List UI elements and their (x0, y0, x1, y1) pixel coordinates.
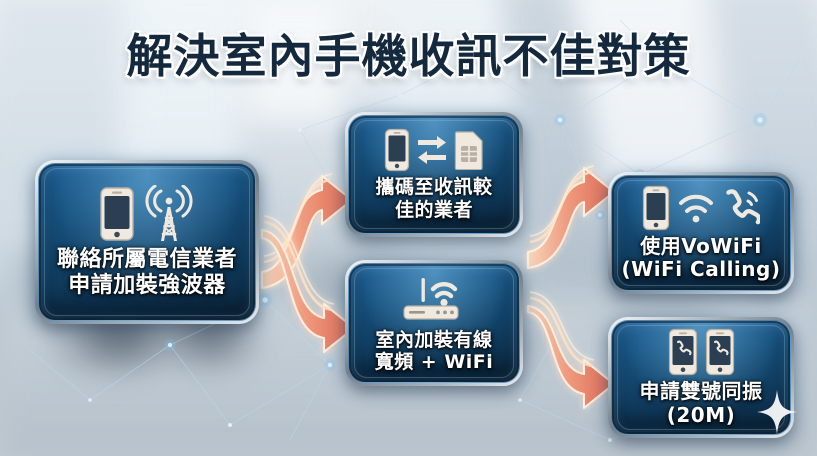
box-broadband-icons (396, 273, 472, 325)
box-dual-label: 申請雙號同振 (20M) (634, 380, 769, 426)
box-port-to-better-carrier[interactable]: 攜碼至收訊較 佳的業者 (345, 112, 523, 237)
box-vowifi-icons (642, 185, 760, 231)
cell-tower-icon (142, 185, 196, 243)
wifi-signal-icon (433, 284, 455, 296)
box-vowifi-label: 使用VoWiFi (WiFi Calling) (616, 235, 787, 281)
box-contact-carrier[interactable]: 聯絡所屬電信業者 申請加裝強波器 (35, 160, 259, 324)
mobile-phone-icon (99, 186, 135, 242)
sparkle-icon (757, 390, 797, 434)
box-carrier-icons (99, 185, 196, 243)
mobile-phone-icon (384, 128, 410, 172)
box-port-label: 攜碼至收訊較 佳的業者 (369, 176, 498, 220)
swap-arrows-icon (417, 133, 447, 167)
mobile-phone-icon (642, 185, 670, 231)
box-carrier-label: 聯絡所屬電信業者 申請加裝強波器 (51, 247, 243, 298)
box-broadband-label: 室內加裝有線 寬頻 + WiFi (369, 329, 500, 373)
sim-card-icon (454, 130, 484, 170)
mobile-phone-call-icon (705, 328, 735, 376)
infographic-canvas: 解決室內手機收訊不佳對策 (0, 0, 817, 456)
box-dual-icons (668, 328, 735, 376)
box-indoor-broadband-wifi[interactable]: 室內加裝有線 寬頻 + WiFi (345, 260, 523, 386)
wifi-router-icon (396, 273, 472, 325)
box-use-vowifi[interactable]: 使用VoWiFi (WiFi Calling) (608, 172, 794, 294)
mobile-phone-call-icon (668, 328, 698, 376)
page-title: 解決室內手機收訊不佳對策 (0, 20, 817, 86)
phone-handset-icon (722, 189, 760, 227)
wifi-signal-icon (677, 192, 715, 224)
box-port-icons (384, 128, 484, 172)
